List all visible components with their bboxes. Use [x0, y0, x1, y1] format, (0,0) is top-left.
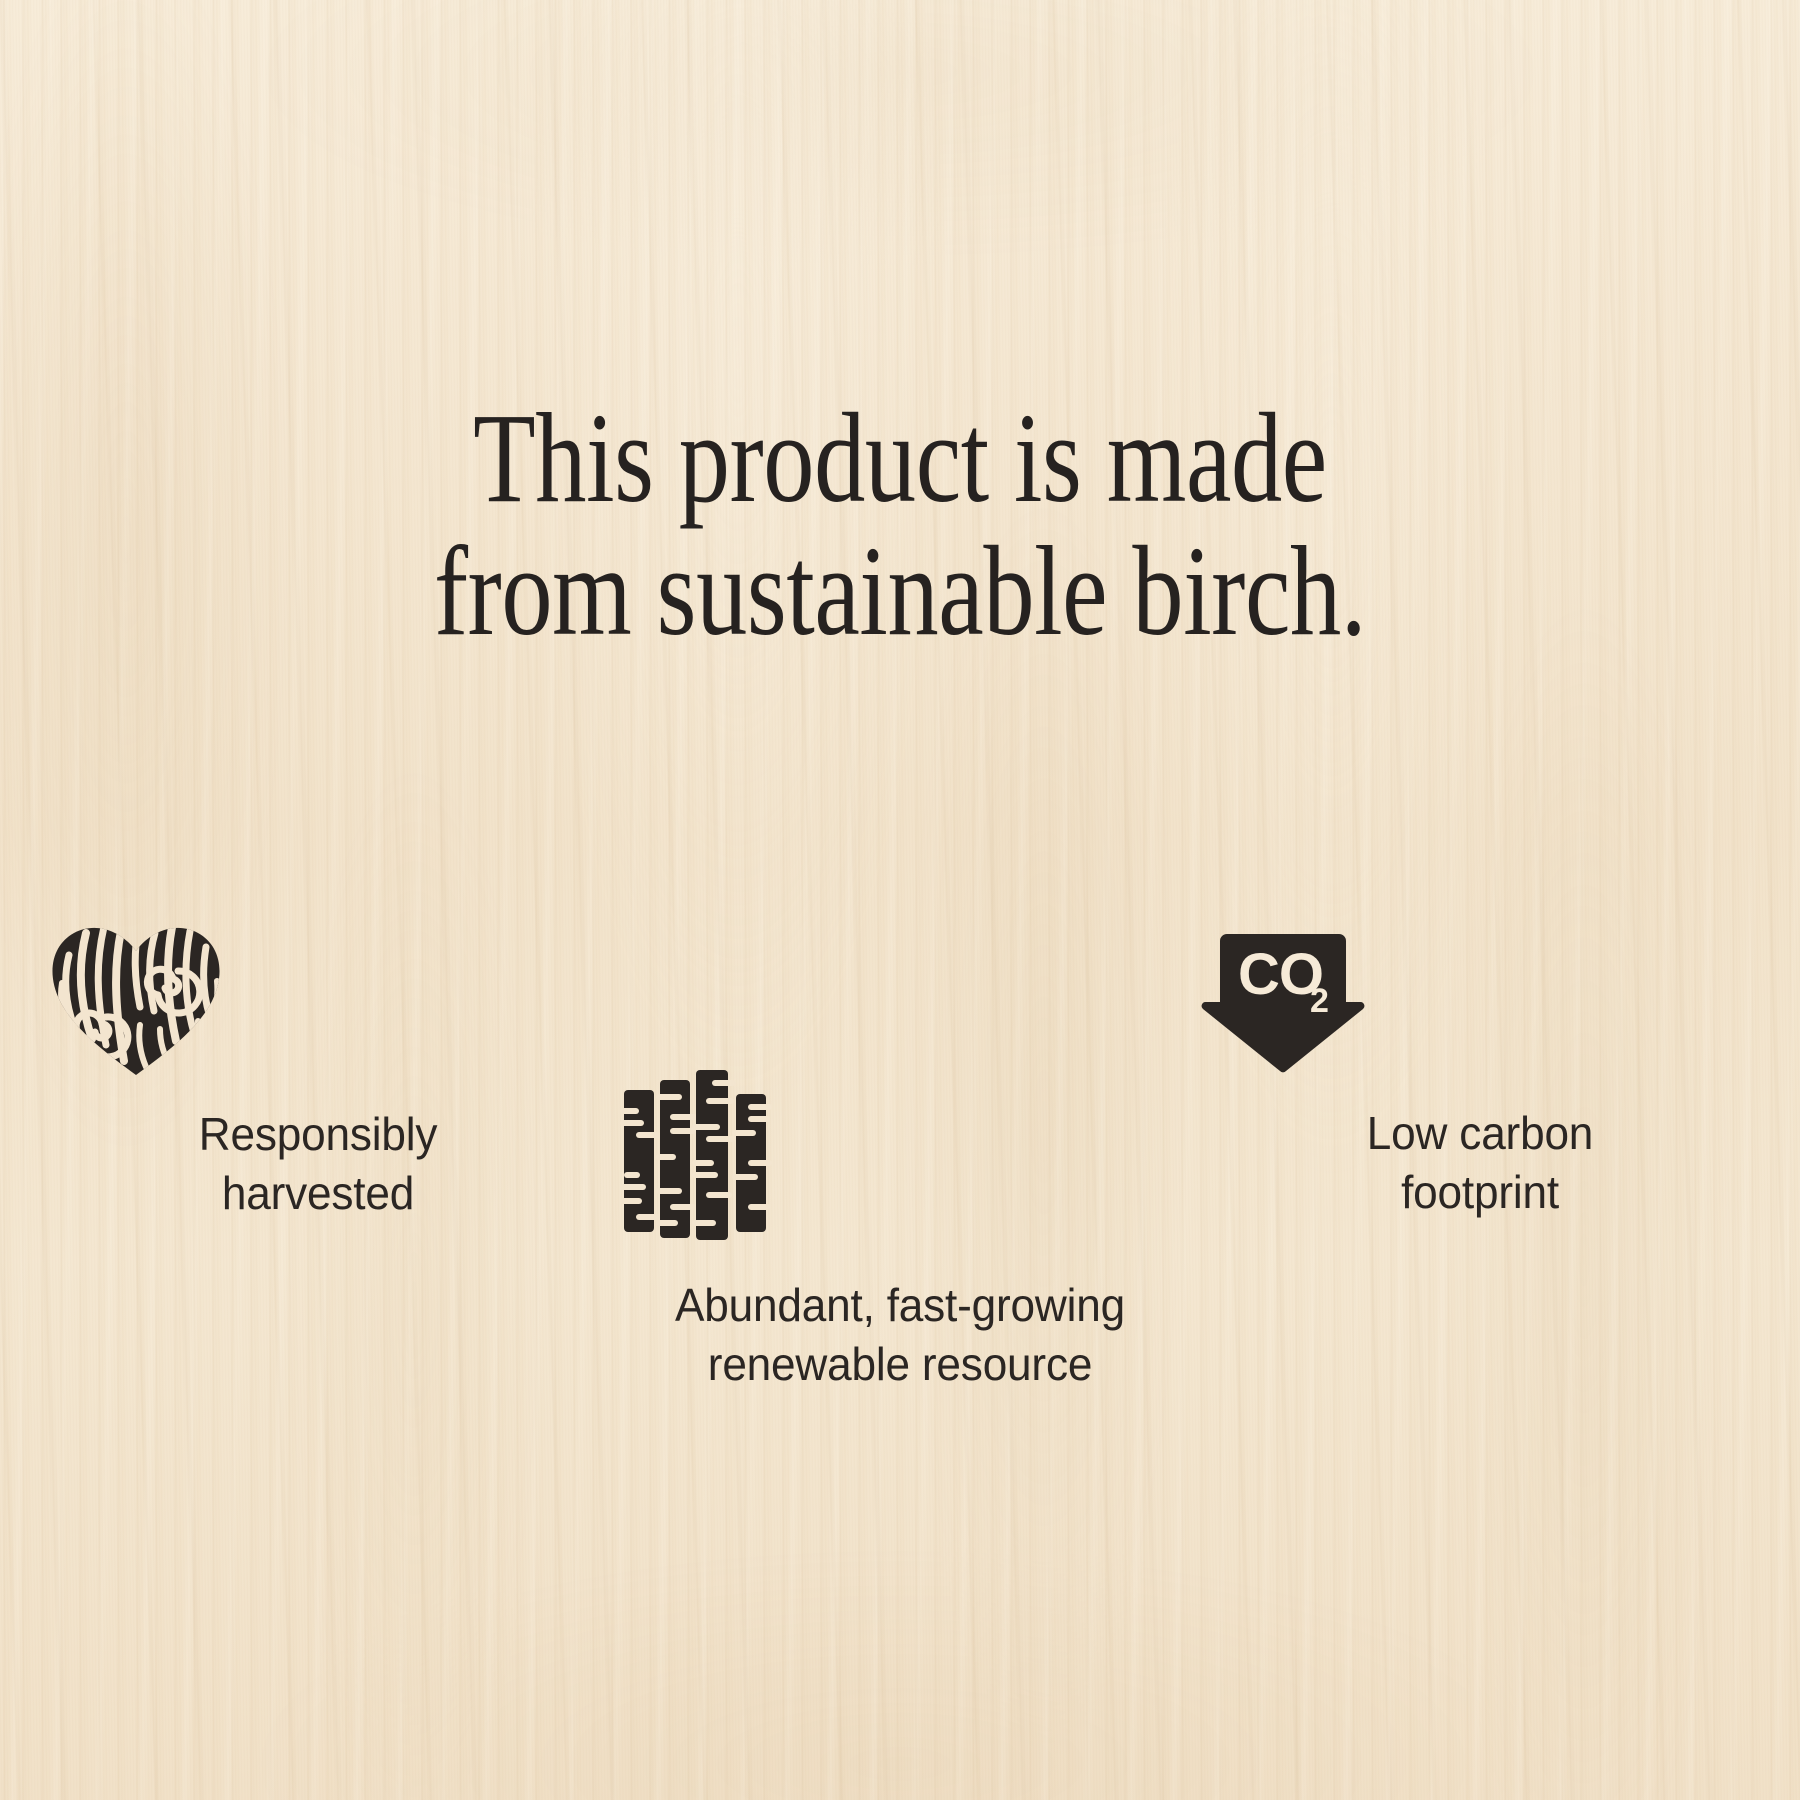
- feature-responsibly-harvested: Responsibly harvested: [48, 925, 588, 1223]
- feature-low-carbon-footprint: CO 2 Low carbon footprint: [1200, 928, 1760, 1222]
- birch-trees-icon: [620, 1068, 1180, 1242]
- co2-down-arrow-icon: CO 2: [1200, 928, 1760, 1074]
- wood-grain-heart-icon: [48, 925, 588, 1077]
- headline: This product is made from sustainable bi…: [180, 392, 1620, 658]
- product-claim-card: This product is made from sustainable bi…: [0, 0, 1800, 1800]
- headline-line-1: This product is made: [180, 392, 1620, 525]
- feature-caption: Low carbon footprint: [1211, 1104, 1749, 1222]
- feature-caption: Responsibly harvested: [59, 1105, 577, 1223]
- headline-line-2: from sustainable birch.: [180, 525, 1620, 658]
- feature-caption: Abundant, fast-growing renewable resourc…: [631, 1276, 1169, 1394]
- wood-fiber-layer: [0, 0, 1800, 1800]
- feature-renewable-resource: Abundant, fast-growing renewable resourc…: [620, 1068, 1180, 1394]
- co2-subscript: 2: [1310, 982, 1329, 1020]
